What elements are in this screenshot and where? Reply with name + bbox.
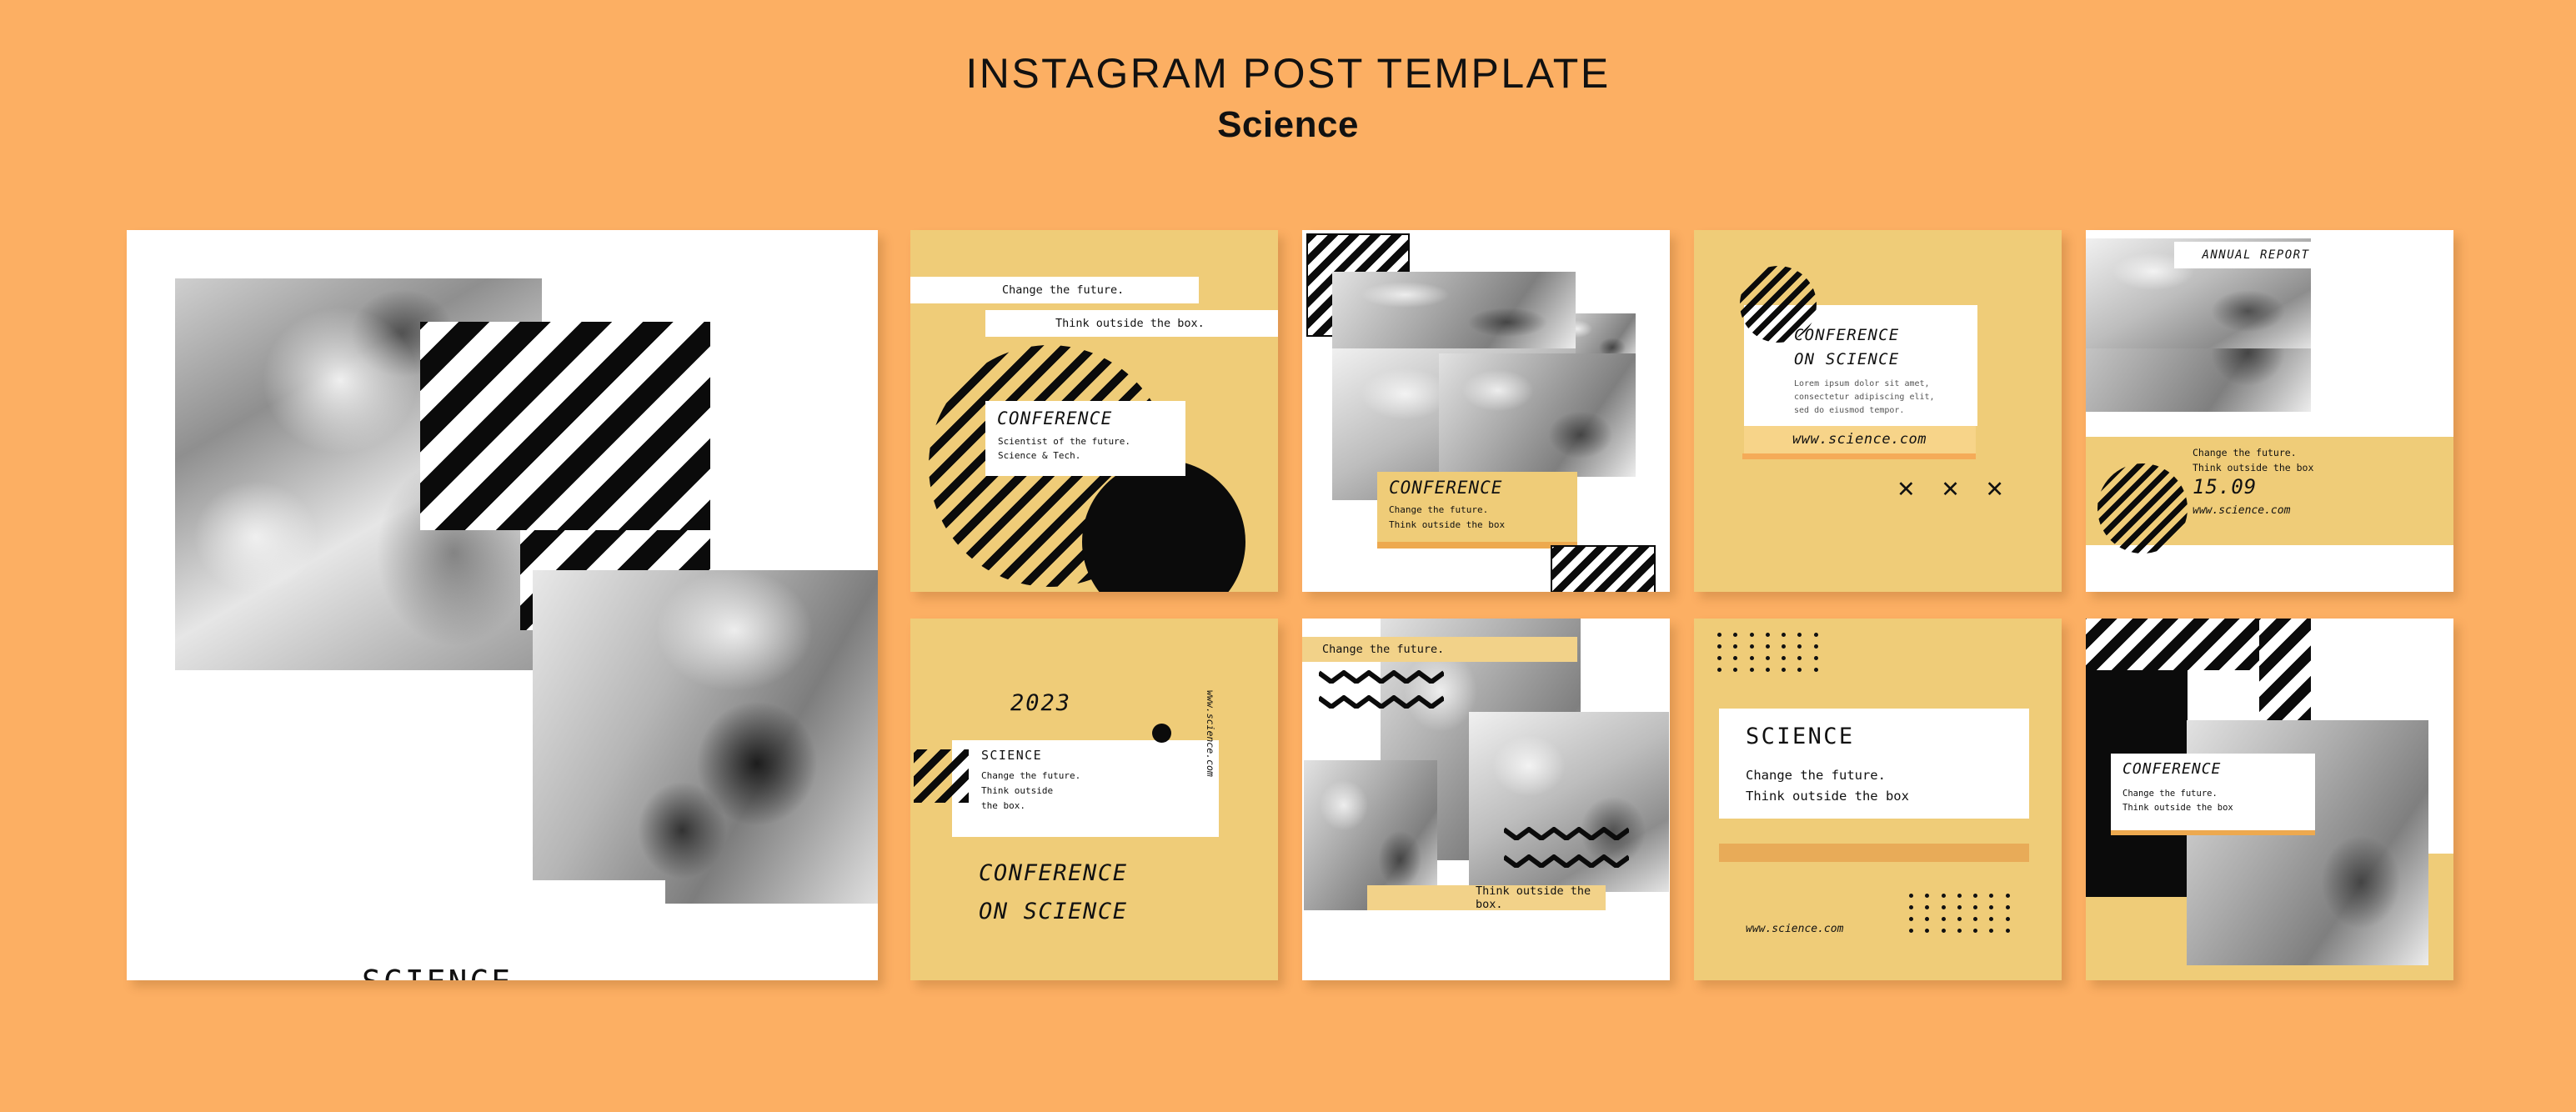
hero-title: SCIENCE [362, 964, 513, 980]
black-dot-decoration [1152, 724, 1171, 743]
conference-heading: CONFERENCE [997, 408, 1112, 428]
annual-report-tagline: Change the future. Think outside the box [2193, 445, 2313, 476]
conference-on-science-heading: CONFERENCE ON SCIENCE [979, 854, 1128, 931]
zigzag-decoration-1 [1319, 670, 1444, 684]
dot-grid-decoration-top [1717, 633, 1830, 679]
conference-panel-underline [2111, 830, 2315, 835]
conference-body: Lorem ipsum dolor sit amet, consectetur … [1794, 378, 1935, 418]
hatched-circle-decoration [2097, 463, 2188, 553]
hatched-square-decoration [914, 749, 969, 803]
label-change-the-future: Change the future. [1302, 637, 1577, 662]
hatched-square-decoration-2 [1551, 545, 1656, 592]
url-banner-underline [1742, 453, 1976, 459]
accent-bar [1719, 844, 2029, 862]
post-card-conference-stripes[interactable]: Change the future. Think outside the box… [910, 230, 1278, 592]
post-card-conference-blocks[interactable]: CONFERENCE Change the future. Think outs… [2086, 619, 2453, 980]
post-card-annual-report[interactable]: ANNUAL REPORT Change the future. Think o… [2086, 230, 2453, 592]
conference-body: Change the future. Think outside the box [1389, 503, 1505, 532]
year-label: 2023 [1010, 690, 1071, 716]
post-card-2023-conference[interactable]: 2023 SCIENCE Change the future. Think ou… [910, 619, 1278, 980]
website-url[interactable]: www.science.com [1746, 923, 1843, 935]
scientist-photo-top [1332, 272, 1576, 348]
post-card-conference-on-science[interactable]: CONFERENCE ON SCIENCE Lorem ipsum dolor … [1694, 230, 2062, 592]
conference-body: Change the future. Think outside the box [2122, 787, 2233, 815]
conference-panel-underline [1377, 542, 1577, 548]
conference-body: Scientist of the future. Science & Tech. [998, 434, 1130, 463]
label-think-outside-the-box: Think outside the box. [1367, 885, 1606, 910]
zigzag-decoration-3 [1504, 827, 1629, 840]
science-heading: SCIENCE [981, 748, 1042, 763]
post-card-science-dots[interactable]: SCIENCE Change the future. Think outside… [1694, 619, 2062, 980]
conference-heading: CONFERENCE ON SCIENCE [1794, 323, 1899, 373]
zigzag-decoration-4 [1504, 854, 1629, 868]
science-body: Change the future. Think outside the box [1746, 765, 1909, 807]
page-title: INSTAGRAM POST TEMPLATE [0, 52, 2576, 96]
conference-heading: CONFERENCE [1389, 478, 1502, 498]
website-url-vertical[interactable]: www.science.com [1205, 690, 1216, 777]
label-change-the-future: Change the future. [910, 277, 1199, 303]
diagonal-stripes-decoration [420, 322, 710, 530]
event-date: 15.09 [2193, 475, 2257, 498]
post-card-conference-photos[interactable]: CONFERENCE Change the future. Think outs… [1302, 230, 1670, 592]
science-body: Change the future. Think outside the box… [981, 769, 1080, 813]
petri-dish-photo [1439, 353, 1636, 477]
dot-grid-decoration-bottom [1909, 894, 2022, 940]
science-heading: SCIENCE [1746, 724, 1855, 749]
microscope-photo [533, 570, 878, 904]
zigzag-decoration-2 [1319, 695, 1444, 709]
website-url[interactable]: www.science.com [2193, 504, 2290, 517]
cross-marks-decoration: ✕ ✕ ✕ [1897, 477, 2013, 503]
post-card-hero[interactable]: SCIENCE Change the future. Think outside… [127, 230, 878, 980]
annual-report-label: ANNUAL REPORT [2174, 242, 2338, 268]
page-subtitle: Science [0, 104, 2576, 146]
label-think-outside-the-box: Think outside the box. [985, 310, 1278, 337]
post-card-zigzag-lab[interactable]: Change the future. Think outside the box… [1302, 619, 1670, 980]
page-header: INSTAGRAM POST TEMPLATE Science [0, 52, 2576, 146]
conference-heading: CONFERENCE [2122, 760, 2221, 778]
diagonal-stripes-right [2259, 619, 2311, 722]
website-url[interactable]: www.science.com [1792, 431, 1927, 448]
